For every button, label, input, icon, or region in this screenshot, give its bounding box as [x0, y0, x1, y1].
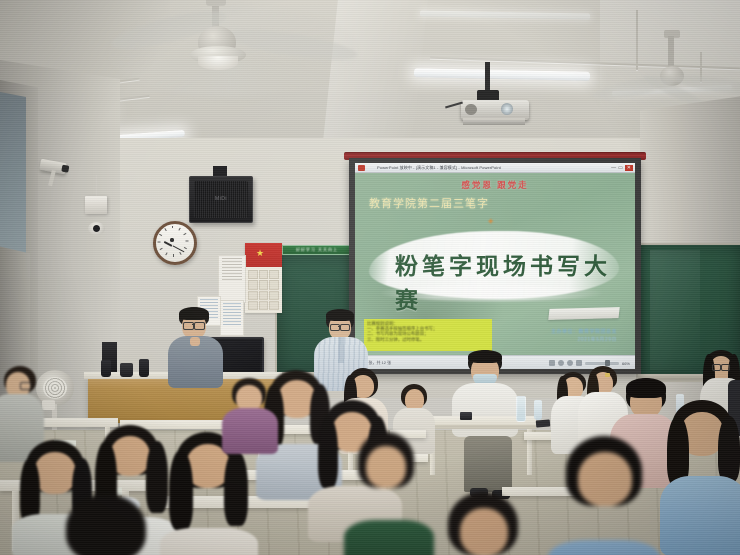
wall-speaker: MiDi: [189, 176, 253, 223]
presenter-at-computer: [168, 307, 230, 387]
slide-canvas[interactable]: 感党恩 跟党走 教育学院第二届三笔字 ◈ 粉笔字现场书写大赛 主办单位：教育学院…: [355, 173, 635, 355]
audience-member: [224, 378, 276, 452]
ceiling-projector: [455, 62, 545, 132]
close-icon[interactable]: ✕: [625, 165, 633, 171]
slide-notice-box: 比赛规则说明： 一、参赛选手按抽签顺序上台书写； 二、书写内容为现场公布题目； …: [364, 319, 492, 351]
water-bottle: [534, 400, 542, 420]
slide-organizer-text: 主办单位：教育学院团总支: [551, 328, 617, 335]
slide-subtitle-text: 教育学院第二届三笔字: [369, 195, 489, 211]
dome-camera-icon: [88, 222, 105, 235]
sorter-view-icon[interactable]: [558, 360, 564, 366]
notice-line: 三、限时三分钟，过时停笔。: [367, 337, 489, 342]
powerpoint-title-text: PowerPoint 放映中 - [演示文稿1 - 兼容模式] - Micros…: [365, 165, 501, 171]
motto-sign: 好好学习 天天向上: [282, 245, 352, 255]
audience-member: [352, 432, 424, 555]
hair-clip: [605, 373, 610, 377]
left-window: [0, 92, 26, 267]
minimize-icon[interactable]: —: [611, 165, 616, 171]
star-icon: ★: [256, 248, 264, 259]
thermos-flask: [101, 360, 111, 377]
left-wall-lower: [0, 247, 30, 384]
slide-main-title: 粉笔字现场书写大赛: [395, 247, 635, 315]
audience-member: [556, 436, 652, 555]
white-wall-notice: [218, 255, 246, 303]
speaker-brand-label: MiDi: [215, 196, 227, 202]
thermos-flask: [139, 359, 149, 377]
zoom-level-text: 66%: [622, 361, 630, 366]
clock-minute-hand: [172, 245, 184, 252]
water-bottle: [516, 396, 526, 422]
reading-view-icon[interactable]: [567, 360, 573, 366]
camera-wire: [96, 175, 97, 197]
maximize-icon[interactable]: ▭: [618, 165, 623, 171]
classroom-photo: MiDi 好好学习 天天向上 ★: [0, 0, 740, 555]
red-wall-poster: ★: [245, 243, 282, 313]
audience-member: [440, 492, 528, 555]
thermos-flask: [120, 363, 133, 377]
normal-view-icon[interactable]: [549, 360, 555, 366]
zoom-slider[interactable]: [585, 362, 619, 365]
mobile-phone: [460, 412, 472, 420]
poster-calendar-grid: [248, 270, 279, 310]
motto-sign-text: 好好学习 天天向上: [283, 247, 351, 253]
trousers: [464, 436, 512, 492]
slide-header-text: 感党恩 跟党走: [355, 179, 635, 191]
ceiling-fan-left: [150, 0, 360, 100]
slide-date-text: 2021年5月29日: [578, 336, 617, 343]
audience-member: [666, 400, 740, 555]
wall-clock: [153, 221, 197, 265]
clock-center: [170, 238, 174, 242]
slide-name-plate: [548, 307, 619, 320]
desk-edge: [424, 425, 536, 429]
camera-power-box: [85, 196, 107, 214]
powerpoint-logo-icon: [358, 165, 365, 171]
slide-seal-icon: ◈: [488, 217, 493, 225]
powerpoint-titlebar: PowerPoint 放映中 - [演示文稿1 - 兼容模式] - Micros…: [355, 163, 635, 173]
mobile-phone: [536, 419, 551, 427]
audience-member: [60, 494, 156, 555]
blackboard-glare: [650, 250, 700, 370]
powerpoint-window[interactable]: PowerPoint 放映中 - [演示文稿1 - 兼容模式] - Micros…: [355, 163, 635, 369]
